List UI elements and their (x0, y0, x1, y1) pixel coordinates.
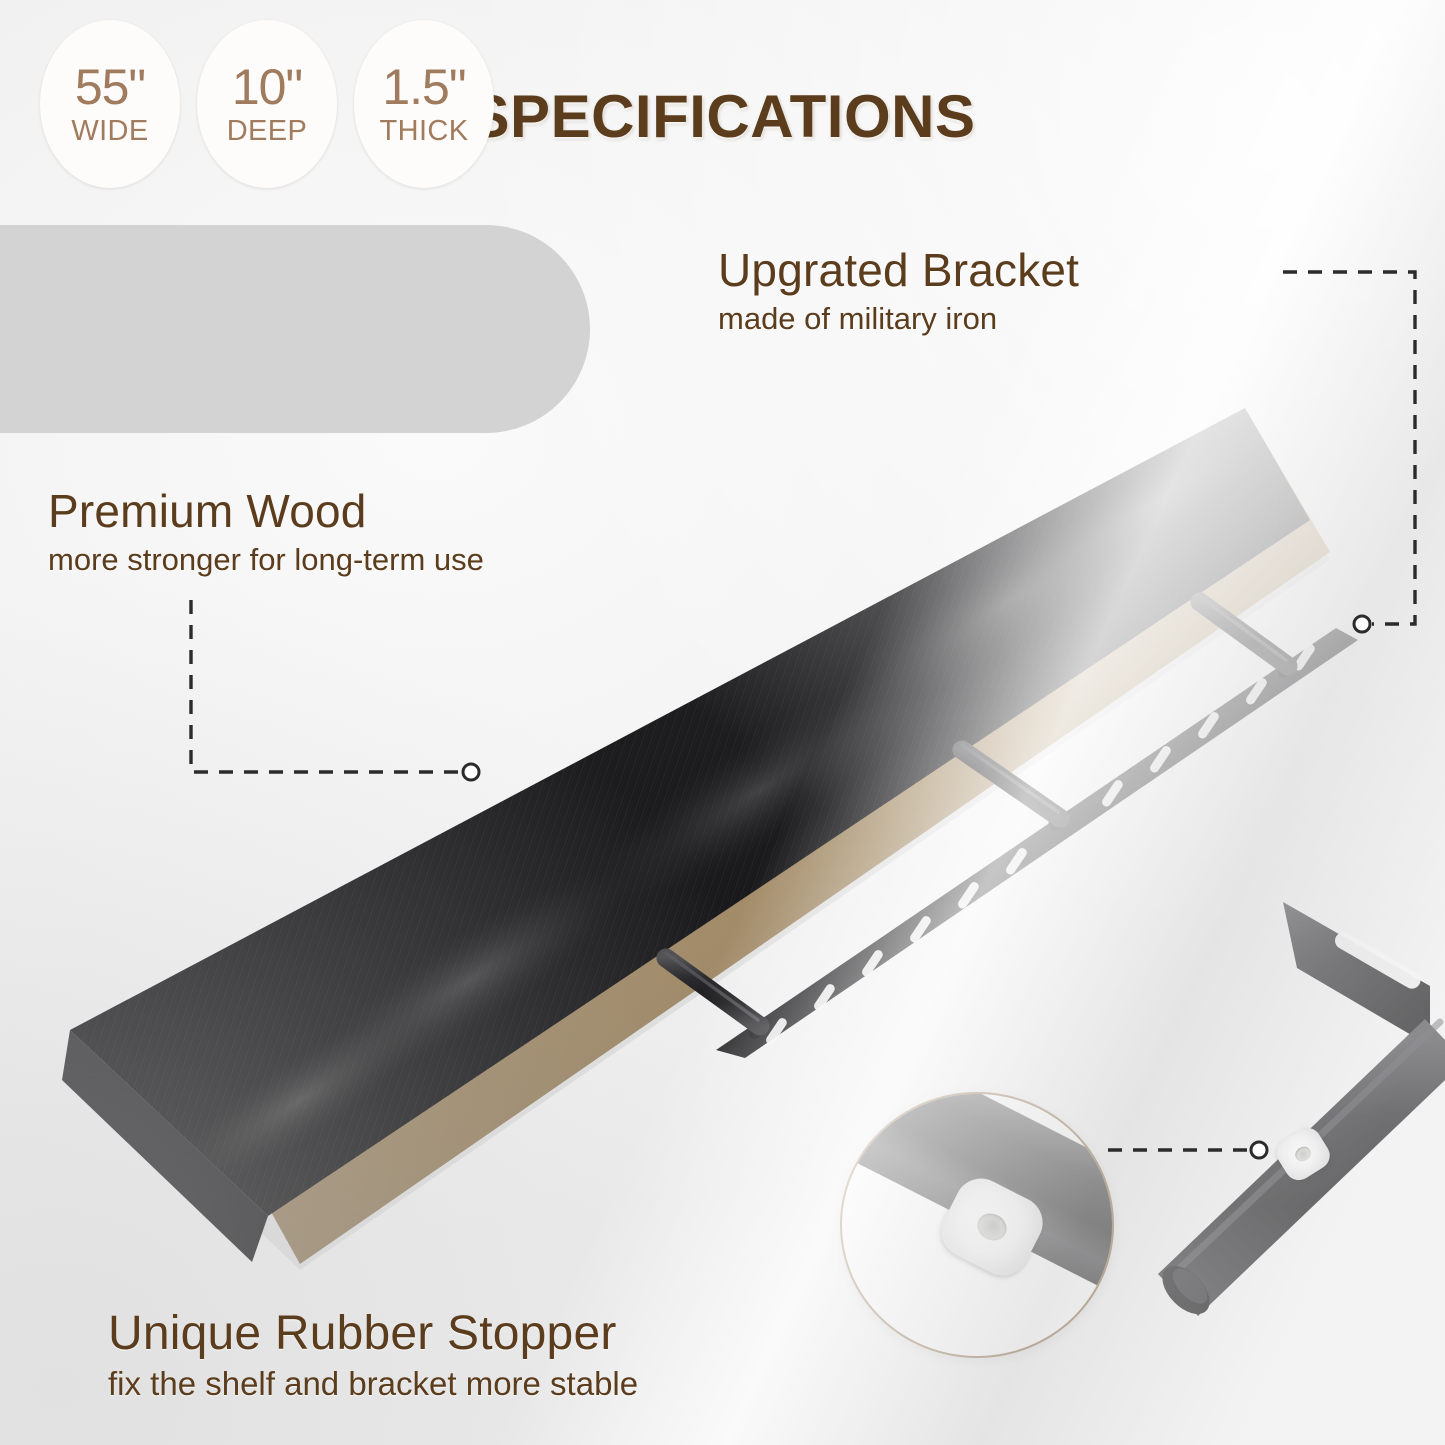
product-photo (0, 0, 1445, 1445)
callout-rubber-stopper: Unique Rubber Stopper fix the shelf and … (108, 1306, 638, 1403)
spec-badge-width: 55" WIDE (40, 20, 180, 188)
spec-label: WIDE (71, 117, 148, 146)
callout-upgraded-bracket: Upgrated Bracket made of military iron (718, 243, 1079, 337)
callout-heading: Upgrated Bracket (718, 243, 1079, 297)
spec-value: 10" (232, 62, 302, 112)
callout-heading: Unique Rubber Stopper (108, 1306, 638, 1361)
callout-subheading: fix the shelf and bracket more stable (108, 1365, 638, 1403)
infographic-canvas: SPECIFICATIONS 55" WIDE 10" DEEP 1.5" TH… (0, 0, 1445, 1445)
callout-subheading: more stronger for long-term use (48, 542, 484, 578)
spec-badge-row: 55" WIDE 10" DEEP 1.5" THICK (40, 0, 494, 208)
spec-value: 1.5" (382, 62, 465, 112)
callout-heading: Premium Wood (48, 484, 484, 538)
spec-value: 55" (75, 62, 145, 112)
spec-badge-depth: 10" DEEP (197, 20, 337, 188)
spec-label: DEEP (227, 117, 308, 146)
spec-label: THICK (380, 117, 469, 146)
spec-badge-thickness: 1.5" THICK (354, 20, 494, 188)
detached-bracket-arm (1154, 902, 1445, 1323)
callout-premium-wood: Premium Wood more stronger for long-term… (48, 484, 484, 578)
callout-subheading: made of military iron (718, 301, 1079, 337)
spec-panel (0, 225, 590, 433)
rubber-stopper-magnifier (840, 1092, 1114, 1358)
shelf-board (0, 0, 1445, 1445)
